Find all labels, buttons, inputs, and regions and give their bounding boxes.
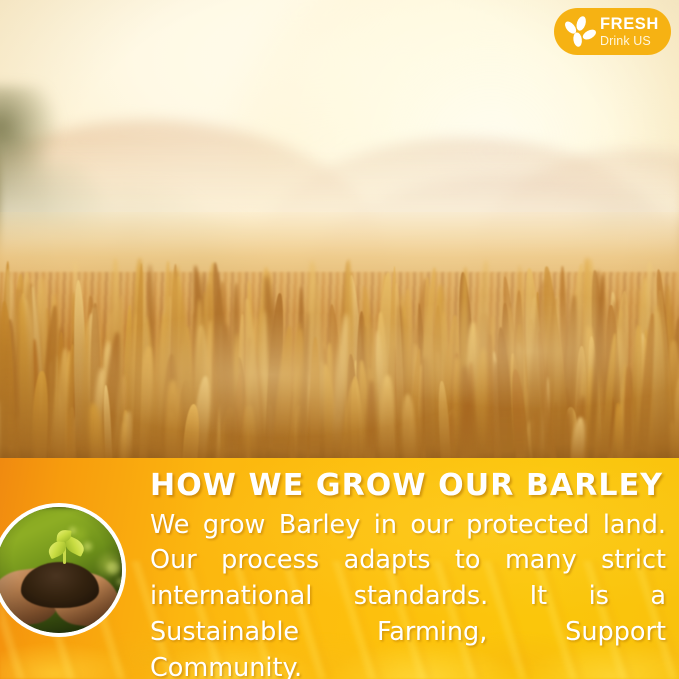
- panel-text-column: HOW WE GROW OUR BARLEY We grow Barley in…: [150, 470, 666, 679]
- hero-wheat-field-photo: [0, 0, 679, 462]
- leaf-flower-icon: [559, 12, 599, 52]
- logo-primary-text: FRESH: [600, 16, 659, 33]
- product-lifestyle-banner: FRESH Drink US HOW WE GROW OUR BARLEY: [0, 0, 679, 679]
- panel-headline: HOW WE GROW OUR BARLEY: [150, 470, 666, 502]
- seedling-sprout: [41, 527, 86, 575]
- brand-logo-badge[interactable]: FRESH Drink US: [554, 8, 671, 55]
- logo-secondary-text: Drink US: [600, 35, 659, 48]
- logo-wordmark: FRESH Drink US: [600, 16, 659, 48]
- seedling-in-hands-photo: [0, 507, 122, 633]
- panel-body-text: We grow Barley in our protected land. Ou…: [150, 508, 666, 679]
- seedling-circle-frame: [0, 503, 126, 637]
- wheat-stalks: [0, 202, 679, 462]
